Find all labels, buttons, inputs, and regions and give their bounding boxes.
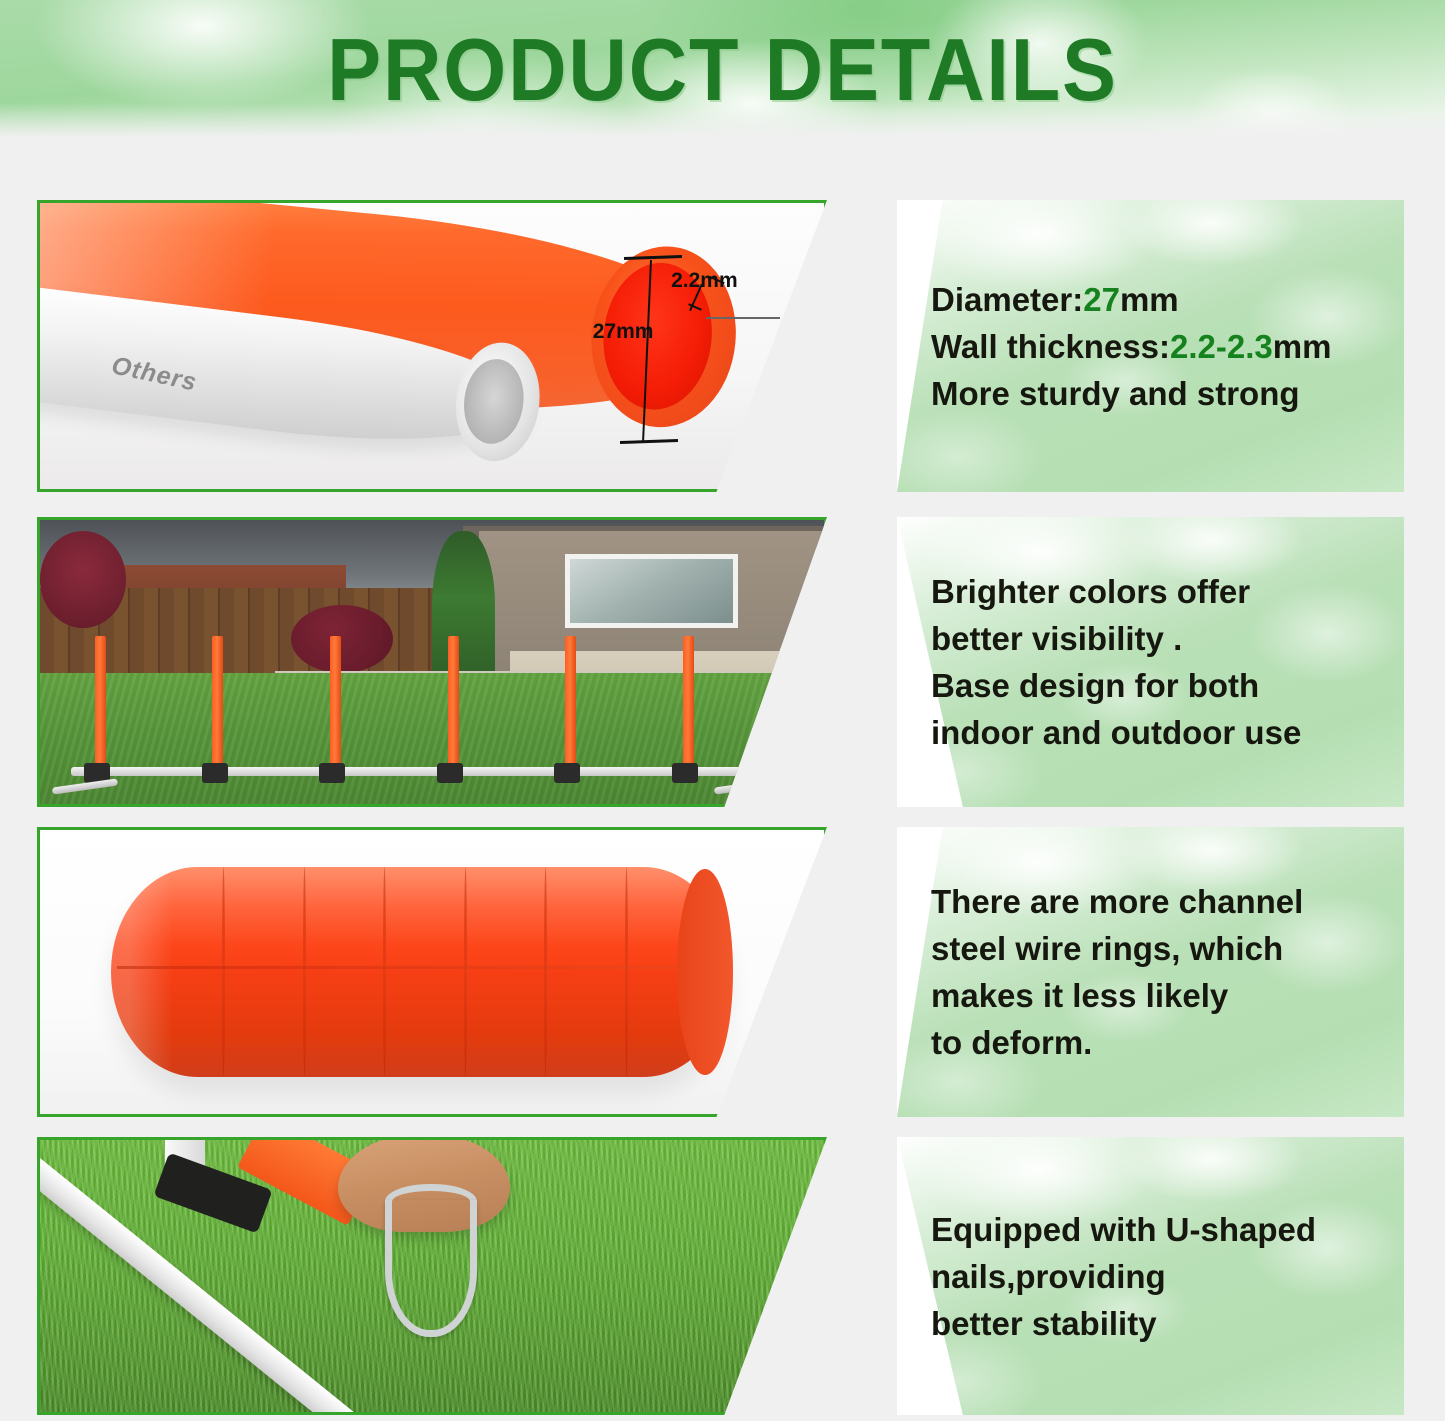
pole-foot xyxy=(554,763,580,783)
feature-line: better visibility . xyxy=(931,615,1404,662)
panel-image-card-tunnel xyxy=(37,827,827,1117)
panel-text-card-visibility: Brighter colors offer better visibility … xyxy=(897,517,1404,807)
steel-wire-ring xyxy=(625,867,628,1077)
feature-line: Diameter:27mm xyxy=(931,276,1404,323)
feature-text: better stability xyxy=(931,1305,1157,1342)
page-title: PRODUCT DETAILS xyxy=(58,22,1387,118)
panel-text-card-stakes: Equipped with U-shaped nails,providing b… xyxy=(897,1137,1404,1415)
agility-pole xyxy=(95,636,106,772)
feature-text: steel wire rings, which xyxy=(931,930,1283,967)
steel-wire-ring xyxy=(544,867,547,1077)
pipe-comparison-photo: Others 27mm 2.2mm xyxy=(40,203,824,489)
wall-leader-line xyxy=(706,317,780,319)
u-shaped-nail-in-grass-photo xyxy=(40,1140,824,1412)
detail-row-tunnel: There are more channel steel wire rings,… xyxy=(0,827,1445,1117)
pole-foot xyxy=(672,763,698,783)
agility-pole xyxy=(448,636,459,772)
feature-text: Equipped with U-shaped xyxy=(931,1211,1316,1248)
feature-text: nails,providing xyxy=(931,1258,1166,1295)
agility-pole xyxy=(683,636,694,772)
red-maple-tree xyxy=(40,531,126,628)
feature-line: Brighter colors offer xyxy=(931,568,1404,615)
pole-foot xyxy=(202,763,228,783)
lawn-grass xyxy=(40,673,824,804)
feature-text: makes it less likely xyxy=(931,977,1228,1014)
panel-text-card-tunnel: There are more channel steel wire rings,… xyxy=(897,827,1404,1117)
feature-line: steel wire rings, which xyxy=(931,925,1404,972)
panel-text-card-diameter: Diameter:27mm Wall thickness:2.2-2.3mm M… xyxy=(897,200,1404,492)
red-bush xyxy=(291,605,393,673)
detail-row-stakes: Equipped with U-shaped nails,providing b… xyxy=(0,1137,1445,1415)
panel-image-card-stake xyxy=(37,1137,827,1415)
feature-highlight: 2.2-2.3 xyxy=(1170,328,1273,365)
feature-line: Wall thickness:2.2-2.3mm xyxy=(931,323,1404,370)
feature-highlight: 27 xyxy=(1083,281,1120,318)
u-shaped-nail xyxy=(385,1200,477,1338)
house-window xyxy=(565,554,737,628)
page-header: PRODUCT DETAILS xyxy=(0,0,1445,145)
feature-text: There are more channel xyxy=(931,883,1303,920)
detail-row-visibility: Brighter colors offer better visibility … xyxy=(0,517,1445,807)
agility-pole xyxy=(330,636,341,772)
panel-image-card-pipes: Others 27mm 2.2mm xyxy=(37,200,827,492)
tunnel-end-cap xyxy=(677,869,733,1075)
steel-wire-ring xyxy=(464,867,467,1077)
tunnel-seam xyxy=(117,966,724,969)
steel-wire-ring xyxy=(222,867,225,1077)
agility-tunnel xyxy=(111,867,730,1077)
feature-text: better visibility . xyxy=(931,620,1182,657)
feature-line: better stability xyxy=(931,1300,1404,1347)
feature-line: More sturdy and strong xyxy=(931,370,1404,417)
feature-line: Equipped with U-shaped xyxy=(931,1206,1404,1253)
detail-row-diameter: Others 27mm 2.2mm Diameter:27mm Wall thi… xyxy=(0,200,1445,492)
feature-line: There are more channel xyxy=(931,878,1404,925)
agility-pole xyxy=(212,636,223,772)
feature-text: Brighter colors offer xyxy=(931,573,1250,610)
feature-text: Base design for both xyxy=(931,667,1259,704)
feature-suffix: mm xyxy=(1273,328,1332,365)
backyard-agility-poles-photo xyxy=(40,520,824,804)
feature-line: makes it less likely xyxy=(931,972,1404,1019)
agility-pole xyxy=(565,636,576,772)
feature-text: More sturdy and strong xyxy=(931,375,1300,412)
feature-text: Wall thickness: xyxy=(931,328,1170,365)
feature-line: nails,providing xyxy=(931,1253,1404,1300)
feature-text: indoor and outdoor use xyxy=(931,714,1301,751)
feature-suffix: mm xyxy=(1120,281,1179,318)
wall-thickness-callout: 2.2mm xyxy=(671,269,738,293)
feature-line: to deform. xyxy=(931,1019,1404,1066)
diameter-callout: 27mm xyxy=(593,320,654,344)
pole-foot xyxy=(437,763,463,783)
orange-agility-tunnel-photo xyxy=(40,830,824,1114)
steel-wire-ring xyxy=(383,867,386,1077)
feature-text: Diameter: xyxy=(931,281,1083,318)
steel-wire-ring xyxy=(303,867,306,1077)
feature-line: indoor and outdoor use xyxy=(931,709,1404,756)
feature-line: Base design for both xyxy=(931,662,1404,709)
pole-foot xyxy=(319,763,345,783)
feature-text: to deform. xyxy=(931,1024,1092,1061)
panel-image-card-backyard xyxy=(37,517,827,807)
